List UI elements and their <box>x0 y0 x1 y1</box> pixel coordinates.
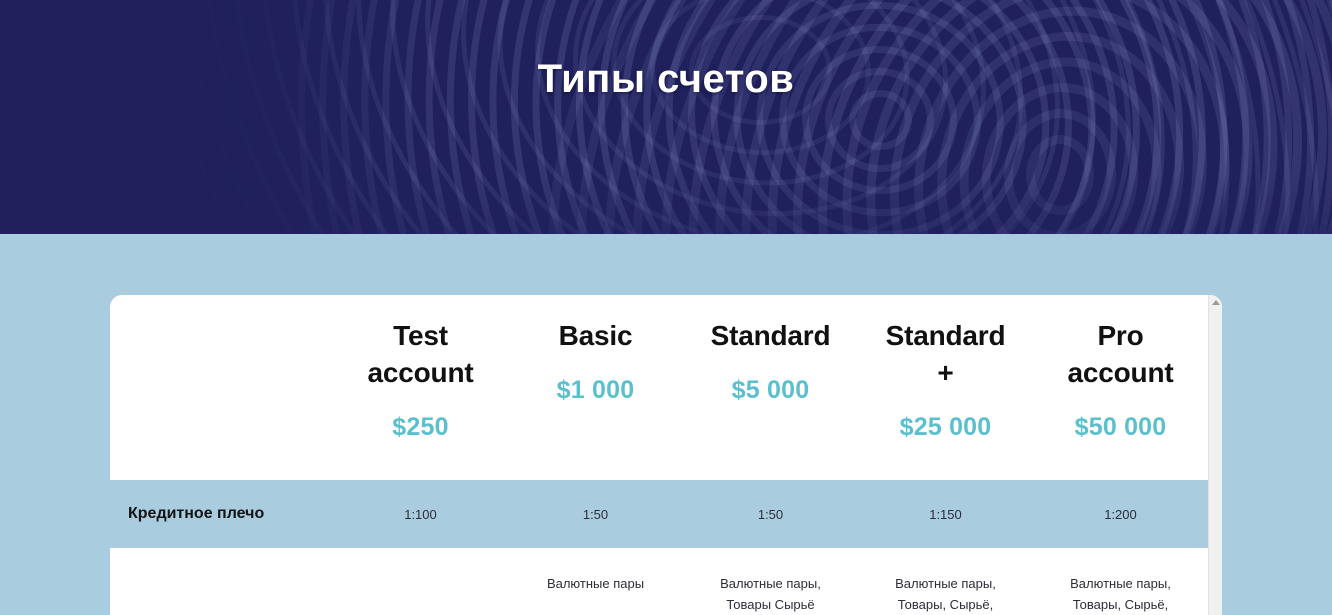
table-cell: 1:100 <box>333 480 508 548</box>
account-types-table: Test account $250 Basic $1 000 Standard … <box>110 295 1208 615</box>
plan-name: Pro account <box>1039 317 1202 391</box>
plan-column-standard-plus[interactable]: Standard + $25 000 <box>858 295 1033 480</box>
table-cell: 1:50 <box>508 480 683 548</box>
plan-name: Standard <box>689 317 852 354</box>
table-header-row: Test account $250 Basic $1 000 Standard … <box>110 295 1208 480</box>
plan-price: $1 000 <box>514 376 677 405</box>
plan-name: Standard + <box>864 317 1027 391</box>
page-root: Типы счетов Test account $250 Basic <box>0 0 1332 615</box>
plan-column-test-account[interactable]: Test account $250 <box>333 295 508 480</box>
account-types-table-card: Test account $250 Basic $1 000 Standard … <box>110 295 1222 615</box>
table-cell: Валютные пары, Товары, Сырьё, <box>1033 548 1208 615</box>
table-header: Test account $250 Basic $1 000 Standard … <box>110 295 1208 480</box>
row-label <box>110 548 333 615</box>
plan-name: Basic <box>514 317 677 354</box>
plan-column-standard[interactable]: Standard $5 000 <box>683 295 858 480</box>
table-cell: 1:200 <box>1033 480 1208 548</box>
table-cell <box>333 548 508 615</box>
table-cell: 1:50 <box>683 480 858 548</box>
plan-name: Test account <box>339 317 502 391</box>
table-row-leverage: Кредитное плечо 1:100 1:50 1:50 1:150 1:… <box>110 480 1208 548</box>
plan-column-pro-account[interactable]: Pro account $50 000 <box>1033 295 1208 480</box>
hero-banner: Типы счетов <box>0 0 1332 234</box>
table-cell: Валютные пары, Товары, Сырьё, <box>858 548 1033 615</box>
row-label: Кредитное плечо <box>110 480 333 548</box>
table-cell: Валютные пары, Товары Сырьё <box>683 548 858 615</box>
table-cell: Валютные пары <box>508 548 683 615</box>
hero-bottom-fade <box>0 174 1332 234</box>
scroll-up-arrow-icon[interactable] <box>1212 300 1220 305</box>
table-row-instruments: Валютные пары Валютные пары, Товары Сырь… <box>110 548 1208 615</box>
plan-price: $5 000 <box>689 376 852 405</box>
plan-price: $250 <box>339 413 502 442</box>
table-cell: 1:150 <box>858 480 1033 548</box>
table-vertical-scrollbar[interactable] <box>1208 295 1222 615</box>
plan-price: $50 000 <box>1039 413 1202 442</box>
plan-price: $25 000 <box>864 413 1027 442</box>
plan-column-basic[interactable]: Basic $1 000 <box>508 295 683 480</box>
table-corner-cell <box>110 295 333 480</box>
page-title: Типы счетов <box>0 57 1332 102</box>
table-body: Кредитное плечо 1:100 1:50 1:50 1:150 1:… <box>110 480 1208 615</box>
